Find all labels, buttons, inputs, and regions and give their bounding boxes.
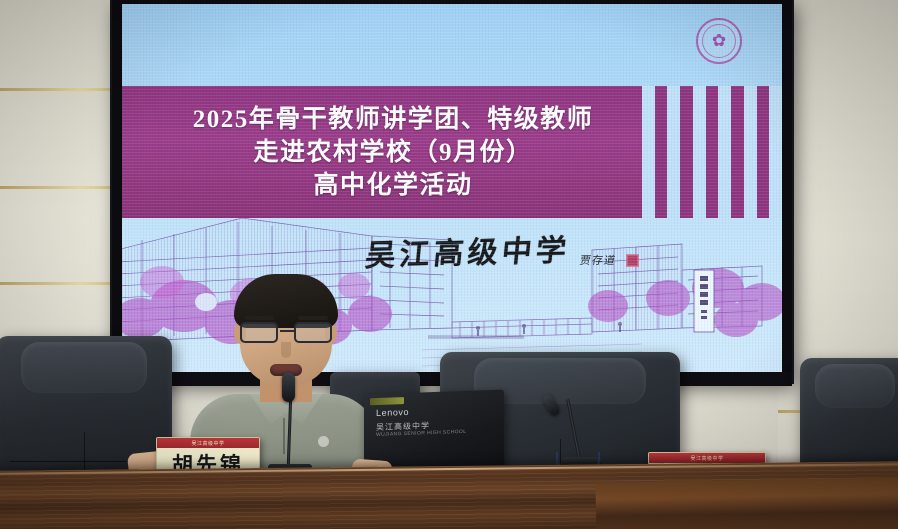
title-text-group: 2025年骨干教师讲学团、特级教师 走进农村学校（9月份） 高中化学活动 <box>144 86 642 218</box>
eyeglasses-icon <box>238 322 334 344</box>
presentation-room-scene: ✿ 2025年骨干教师讲学团、特级教师 走进农村学校（9月份） 高中化学活动 <box>0 0 898 529</box>
stripe <box>680 86 693 218</box>
speaker-eyebrow <box>244 316 274 320</box>
red-seal-icon <box>626 254 639 267</box>
campus-monument <box>694 270 714 332</box>
stripe <box>706 86 719 218</box>
title-line-3: 高中化学活动 <box>313 173 472 198</box>
nameplate-header: 吴江高级中学 <box>649 453 765 463</box>
nameplate-header: 吴江高级中学 <box>157 438 259 448</box>
calligrapher-signature: 贾存道 <box>578 252 617 268</box>
stripe <box>744 86 757 218</box>
title-line-2: 走进农村学校（9月份） <box>253 140 532 165</box>
speaker-eyebrow <box>298 316 328 320</box>
stripe <box>769 86 782 218</box>
laptop-brand-label: Lenovo <box>376 407 409 418</box>
speaker-shirt-logo <box>318 436 329 447</box>
chair-headrest <box>815 364 894 408</box>
chair-headrest <box>21 342 148 393</box>
school-emblem-icon: ✿ <box>696 18 742 64</box>
speaker-nose <box>281 342 291 358</box>
microphone-head <box>282 372 295 402</box>
glasses-bridge <box>280 330 294 332</box>
conference-desk-right-section <box>596 477 898 529</box>
laptop-asset-tag <box>370 397 404 405</box>
glasses-lens <box>294 322 332 343</box>
stripe <box>642 86 655 218</box>
banner-stripe-decoration <box>642 86 782 218</box>
title-line-1: 2025年骨干教师讲学团、特级教师 <box>193 107 594 132</box>
stripe <box>693 86 706 218</box>
stripe <box>731 86 744 218</box>
school-name-text: 吴江高级中学 <box>363 225 572 275</box>
stripe <box>667 86 680 218</box>
calligraphy-school-name: 吴江高级中学 贾存道 <box>332 226 672 274</box>
glasses-lens <box>240 322 278 343</box>
emblem-mark: ✿ <box>712 32 726 49</box>
speaker-shirt-placket <box>283 418 285 454</box>
stripe <box>757 86 770 218</box>
stripe <box>718 86 731 218</box>
stripe <box>655 86 668 218</box>
